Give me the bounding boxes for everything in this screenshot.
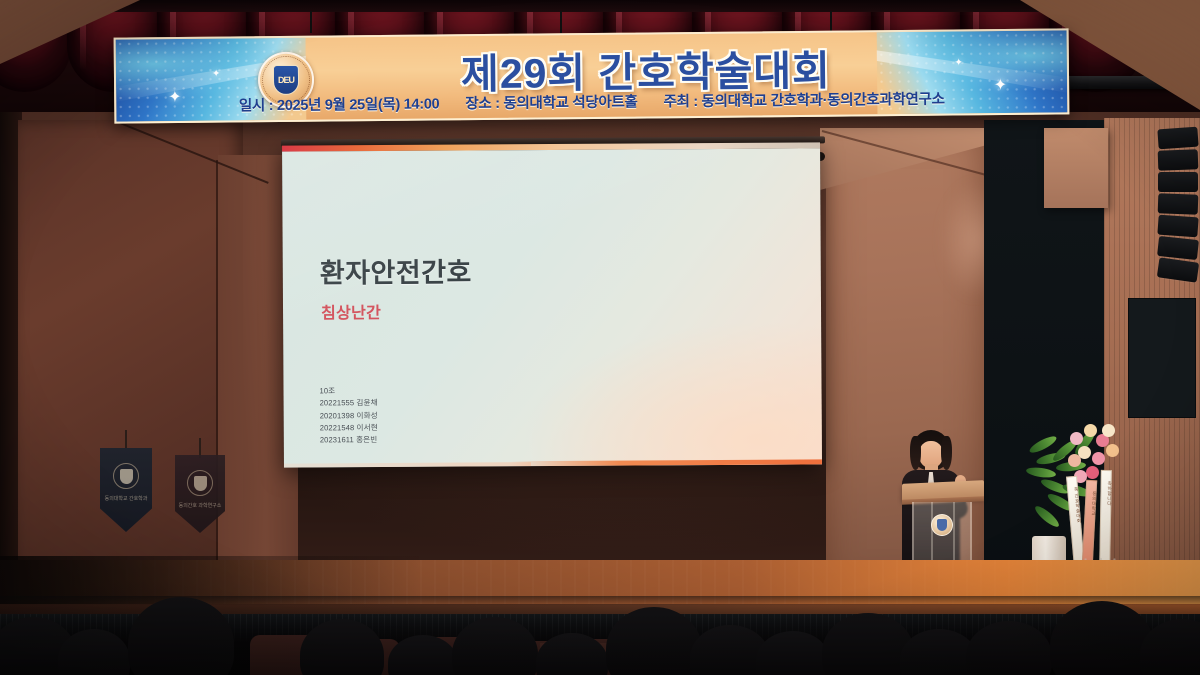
roster-member: 20201398 이화성 [320, 410, 378, 423]
banner-hook-mid [560, 11, 562, 33]
banner-detail-datetime: 일시 : 2025년 9월 25일(목) 14:00 [239, 92, 440, 115]
roster-member: 20221548 이서현 [320, 422, 378, 435]
conference-photo: ✦ ✦ ✦ ✦ DEU 제29회 간호학술대회 일시 : 2025년 9월 25… [0, 0, 1200, 675]
roster-group-label: 10조 [319, 385, 377, 398]
slide-title: 환자안전간호 [320, 250, 472, 290]
audience [0, 596, 1200, 675]
pennant-label: 동의대학교 간호학과 [100, 496, 152, 504]
flower-ribbon: 축하합니다 [1099, 470, 1112, 570]
ribbon-text: 축하합니다 [1102, 481, 1111, 506]
slide-roster: 10조 20221555 김윤채 20201398 이화성 20221548 이… [319, 385, 377, 447]
event-banner: ✦ ✦ ✦ ✦ DEU 제29회 간호학술대회 일시 : 2025년 9월 25… [114, 28, 1070, 123]
banner-hook-left [310, 11, 312, 33]
curtain-top-bar [0, 0, 1200, 12]
podium-seal-icon [931, 514, 953, 536]
line-array-speaker [1158, 128, 1200, 288]
right-dark-square-panel [1128, 298, 1196, 418]
ribbon-text: 축 간호학술대회 [1069, 487, 1081, 524]
pennant-emblem-icon [113, 463, 139, 489]
presenter-hair-right [941, 436, 952, 470]
pennant-emblem-icon [187, 470, 213, 496]
roster-member: 20221555 김윤채 [320, 397, 378, 410]
banner-detail-host: 주최 : 동의대학교 간호학과·동의간호과학연구소 [663, 87, 944, 111]
ribbon-text: 동의대학교 [1086, 491, 1096, 516]
presentation-slide: 환자안전간호 침상난간 10조 20221555 김윤채 20201398 이화… [282, 148, 822, 467]
pennant-pole [125, 430, 127, 450]
slide-subtitle: 침상난간 [321, 299, 381, 323]
banner-sparkle-icon: ✦ [212, 69, 220, 80]
projection-screen: 환자안전간호 침상난간 10조 20221555 김윤채 20201398 이화… [282, 142, 822, 467]
roster-member: 20231611 홍은빈 [320, 434, 378, 447]
pennant-label: 동의간호 과학연구소 [175, 503, 225, 511]
banner-detail-location: 장소 : 동의대학교 석당아트홀 [465, 90, 637, 113]
right-upper-wood-block [1044, 128, 1108, 208]
presenter-hair-left [910, 436, 921, 470]
